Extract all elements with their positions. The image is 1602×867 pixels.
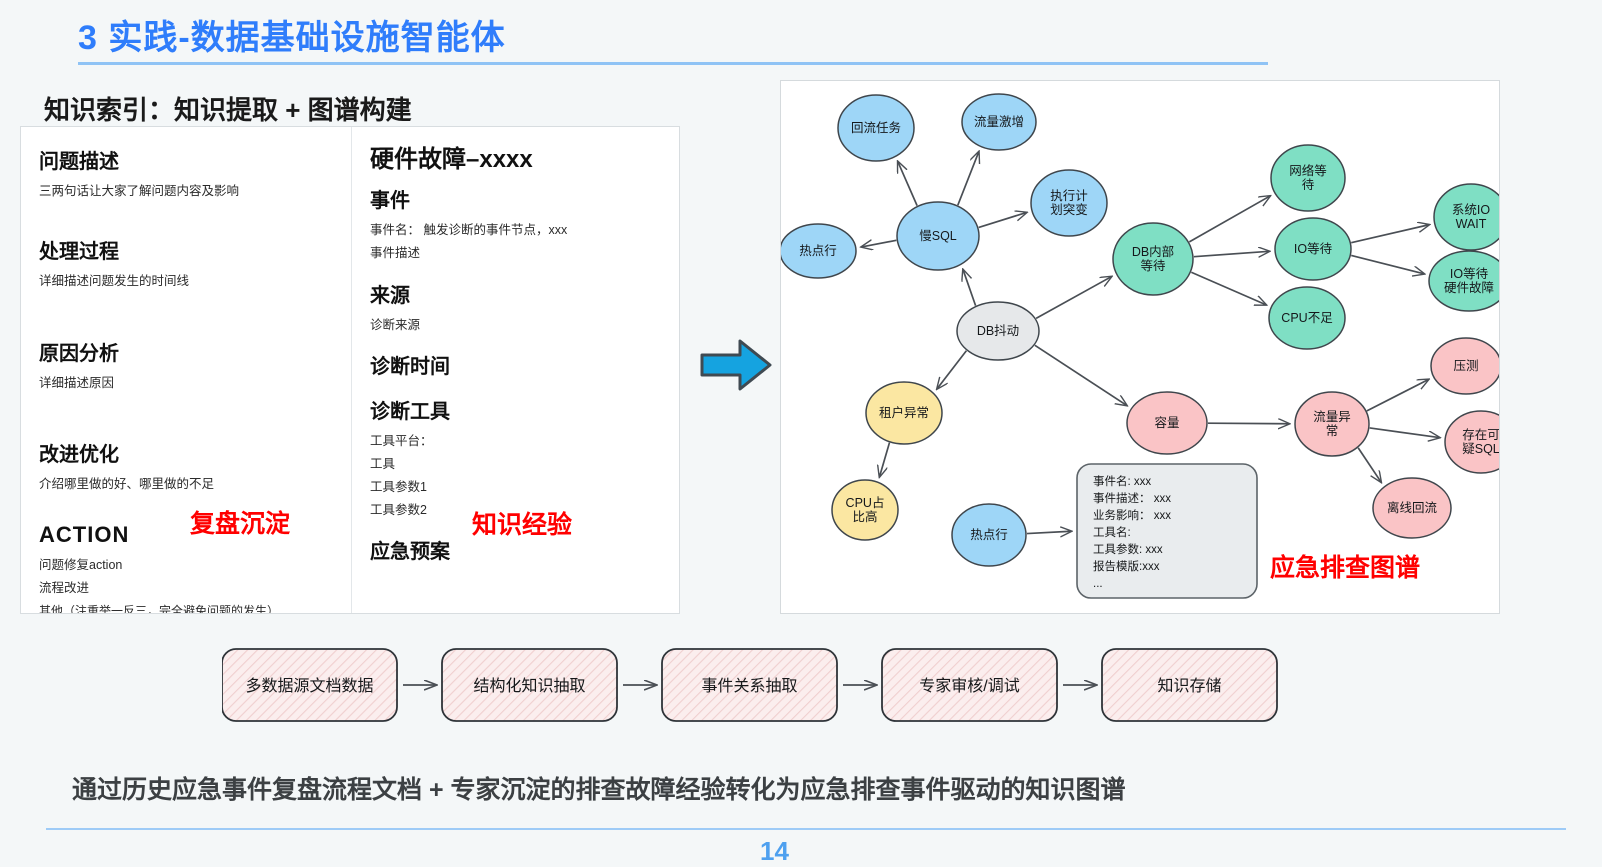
pipeline-step-label: 结构化知识抽取 [473, 677, 585, 695]
graph-node-label: 存在可疑SQL [1462, 428, 1500, 456]
doc-text-improve: 介绍哪里做的好、哪里做的不足 [39, 475, 333, 494]
graph-edge [1367, 380, 1429, 411]
graph-node-label: 离线回流 [1387, 500, 1438, 515]
tooltip-line: 工具参数: xxx [1093, 542, 1163, 556]
section-heading: 知识索引：知识提取 + 图谱构建 [44, 90, 412, 127]
graph-node[interactable]: 热点行 [952, 504, 1026, 566]
graph-edge [979, 213, 1027, 228]
doc-text-cause: 详细描述原因 [39, 374, 333, 393]
doc-text-tool-2: 工具 [370, 455, 663, 474]
annotation-emergency-graph: 应急排查图谱 [1270, 548, 1420, 584]
tooltip-line: 报告模版:xxx [1093, 559, 1160, 573]
graph-node[interactable]: IO等待 [1275, 218, 1351, 280]
spacer [39, 205, 333, 219]
doc-heading-problem: 问题描述 [39, 145, 333, 174]
graph-edge [958, 152, 979, 205]
pipeline-step[interactable]: 多数据源文档数据 [222, 649, 397, 721]
page-title: 3 实践-数据基础设施智能体 [78, 10, 506, 59]
pipeline-step-label: 专家审核/调试 [919, 677, 1019, 695]
graph-node[interactable]: 存在可疑SQL [1445, 411, 1500, 473]
graph-node-label: 慢SQL [919, 229, 957, 243]
graph-node-label: 回流任务 [851, 120, 901, 135]
graph-edge [1189, 196, 1270, 242]
graph-node-label: 压测 [1453, 359, 1478, 373]
tooltip-line: 事件名: xxx [1093, 474, 1151, 488]
graph-tooltip-card: 事件名: xxx事件描述： xxx业务影响： xxx工具名:工具参数: xxx报… [1077, 464, 1257, 598]
graph-node[interactable]: 慢SQL [897, 202, 979, 270]
graph-edge [1358, 448, 1381, 482]
footer-divider [46, 828, 1566, 830]
doc-column-left: 问题描述 三两句话让大家了解问题内容及影响 处理过程 详细描述问题发生的时间线 … [21, 127, 351, 613]
pipeline-step[interactable]: 事件关系抽取 [662, 649, 837, 721]
graph-node-label: 执行计划突变 [1050, 189, 1088, 217]
graph-node[interactable]: DB抖动 [957, 302, 1039, 360]
doc-text-problem: 三两句话让大家了解问题内容及影响 [39, 182, 333, 201]
transform-arrow-icon [700, 335, 772, 395]
graph-node-label: DB抖动 [977, 324, 1019, 338]
doc-text-action-3: 其他（注重举一反三，完全避免问题的发生） [39, 602, 333, 615]
graph-edge [1035, 345, 1127, 405]
graph-node[interactable]: 热点行 [781, 224, 856, 278]
graph-edge [1351, 225, 1429, 243]
graph-node[interactable]: 回流任务 [838, 95, 914, 161]
knowledge-doc-panel: 问题描述 三两句话让大家了解问题内容及影响 处理过程 详细描述问题发生的时间线 … [20, 126, 680, 614]
pipeline-step[interactable]: 知识存储 [1102, 649, 1277, 721]
graph-node-label: IO等待硬件故障 [1444, 266, 1494, 295]
knowledge-graph-svg: 回流任务流量激增热点行慢SQL执行计划突变DB内部等待网络等待IO等待CPU不足… [781, 81, 1500, 614]
graph-node[interactable]: 租户异常 [866, 382, 942, 444]
tooltip-line: 工具名: [1093, 525, 1131, 539]
graph-node[interactable]: DB内部等待 [1113, 223, 1193, 295]
annotation-review-precipitation: 复盘沉淀 [190, 504, 290, 540]
graph-node[interactable]: 系统IOWAIT [1434, 184, 1500, 250]
doc-heading-diag-time: 诊断时间 [370, 350, 663, 379]
doc-title-hardware-fault: 硬件故障–xxxx [370, 139, 663, 174]
doc-text-process: 详细描述问题发生的时间线 [39, 272, 333, 291]
doc-heading-diag-tool: 诊断工具 [370, 395, 663, 424]
graph-node[interactable]: CPU占比高 [832, 480, 898, 540]
pipeline-step-label: 事件关系抽取 [701, 677, 797, 695]
graph-node[interactable]: 执行计划突变 [1031, 170, 1107, 236]
doc-text-tool-3: 工具参数1 [370, 478, 663, 497]
graph-edge [1191, 272, 1266, 305]
graph-edge [898, 162, 917, 206]
graph-node[interactable]: 压测 [1431, 338, 1500, 394]
graph-edge [937, 351, 966, 389]
knowledge-graph-panel: 回流任务流量激增热点行慢SQL执行计划突变DB内部等待网络等待IO等待CPU不足… [780, 80, 1500, 614]
graph-edge [1351, 255, 1424, 273]
pipeline-step[interactable]: 专家审核/调试 [882, 649, 1057, 721]
graph-edge [1208, 423, 1289, 424]
graph-node-label: IO等待 [1294, 241, 1333, 256]
tooltip-line: 事件描述： xxx [1093, 491, 1171, 505]
graph-edge [1036, 277, 1111, 319]
doc-heading-source: 来源 [370, 279, 663, 308]
spacer [39, 295, 333, 321]
doc-heading-improve: 改进优化 [39, 438, 333, 467]
graph-node-label: 流量激增 [974, 114, 1024, 129]
graph-edge [880, 443, 890, 477]
doc-heading-event: 事件 [370, 184, 663, 213]
doc-text-event-name: 事件名： 触发诊断的事件节点，xxx [370, 221, 663, 240]
graph-node-label: 热点行 [970, 528, 1008, 542]
slide-caption: 通过历史应急事件复盘流程文档 + 专家沉淀的排查故障经验转化为应急排查事件驱动的… [72, 770, 1126, 806]
graph-node[interactable]: 容量 [1127, 392, 1207, 454]
doc-text-action-1: 问题修复action [39, 556, 333, 575]
graph-edge [1194, 251, 1269, 256]
pipeline-flow: 多数据源文档数据结构化知识抽取事件关系抽取专家审核/调试知识存储 [222, 645, 1282, 725]
tooltip-line: ... [1093, 578, 1103, 590]
graph-node[interactable]: 离线回流 [1373, 478, 1451, 538]
title-divider [78, 62, 1268, 65]
doc-text-source: 诊断来源 [370, 316, 663, 335]
graph-node-label: 容量 [1154, 415, 1179, 430]
tooltip-line: 业务影响： xxx [1093, 508, 1171, 522]
graph-edge [1027, 531, 1071, 533]
slide-root: 3 实践-数据基础设施智能体 知识索引：知识提取 + 图谱构建 问题描述 三两句… [0, 0, 1602, 862]
graph-edge [862, 240, 897, 247]
graph-node-label: 租户异常 [879, 405, 929, 420]
annotation-knowledge-experience: 知识经验 [472, 505, 572, 541]
doc-text-event-desc: 事件描述 [370, 244, 663, 263]
graph-node[interactable]: 网络等待 [1271, 145, 1345, 211]
graph-node[interactable]: IO等待硬件故障 [1429, 251, 1500, 311]
spacer [39, 396, 333, 422]
graph-node-label: 系统IOWAIT [1452, 203, 1490, 231]
graph-node[interactable]: 流量激增 [962, 94, 1036, 150]
pipeline-step-label: 知识存储 [1157, 677, 1221, 695]
graph-edge [1370, 428, 1440, 438]
graph-node[interactable]: CPU不足 [1269, 287, 1345, 349]
graph-edge [963, 270, 975, 306]
doc-text-tool-1: 工具平台： [370, 432, 663, 451]
graph-node[interactable]: 流量异常 [1295, 392, 1369, 456]
graph-node-label: 热点行 [799, 244, 837, 258]
doc-heading-cause: 原因分析 [39, 337, 333, 366]
graph-node-label: CPU不足 [1281, 311, 1333, 325]
pipeline-step[interactable]: 结构化知识抽取 [442, 649, 617, 721]
page-number: 14 [760, 836, 789, 867]
doc-heading-process: 处理过程 [39, 235, 333, 264]
pipeline-step-label: 多数据源文档数据 [245, 677, 373, 695]
doc-text-action-2: 流程改进 [39, 579, 333, 598]
